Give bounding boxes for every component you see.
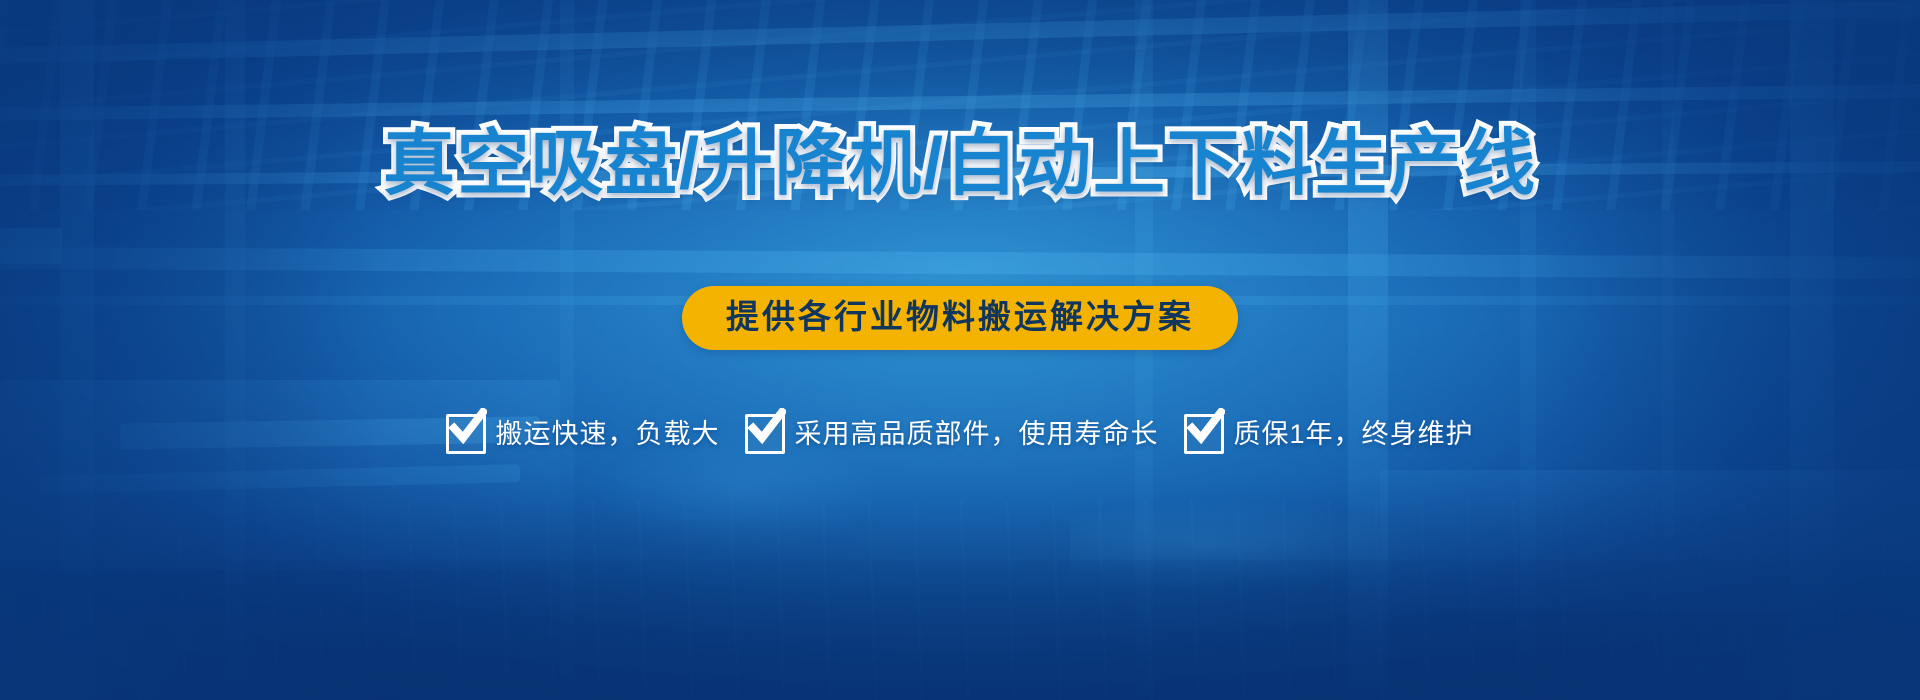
feature-list: 搬运快速，负载大 采用高品质部件，使用寿命长 质保1年，终身维护 — [0, 414, 1920, 454]
hero-banner: 真空吸盘/升降机/自动上下料生产线 提供各行业物料搬运解决方案 搬运快速，负载大 — [0, 0, 1920, 700]
feature-item: 采用高品质部件，使用寿命长 — [745, 414, 1158, 454]
checkbox-checked-icon — [1184, 414, 1224, 454]
feature-label: 搬运快速，负载大 — [495, 421, 719, 448]
feature-item: 质保1年，终身维护 — [1184, 414, 1473, 454]
checkbox-checked-icon — [446, 414, 486, 454]
feature-item: 搬运快速，负载大 — [446, 414, 719, 454]
subtitle-pill: 提供各行业物料搬运解决方案 — [682, 286, 1238, 350]
feature-label: 采用高品质部件，使用寿命长 — [794, 421, 1158, 448]
subtitle-pill-wrapper: 提供各行业物料搬运解决方案 — [0, 286, 1920, 350]
banner-content: 真空吸盘/升降机/自动上下料生产线 提供各行业物料搬运解决方案 搬运快速，负载大 — [0, 0, 1920, 700]
checkbox-checked-icon — [745, 414, 785, 454]
banner-title: 真空吸盘/升降机/自动上下料生产线 — [0, 126, 1920, 204]
feature-label: 质保1年，终身维护 — [1233, 421, 1473, 448]
